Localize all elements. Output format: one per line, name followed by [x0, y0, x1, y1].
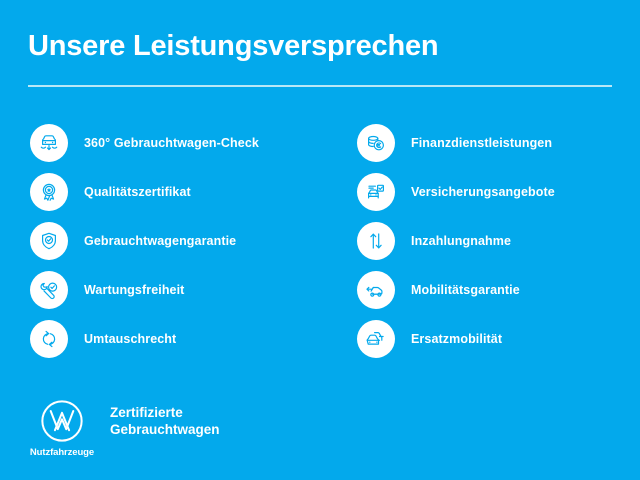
benefit-label: Ersatzmobilität — [411, 332, 502, 346]
benefit-item-quality-certificate: Qualitätszertifikat — [30, 167, 259, 216]
wrench-check-icon — [37, 278, 61, 302]
benefit-item-warranty: Gebrauchtwagengarantie — [30, 216, 259, 265]
benefit-icon-badge — [30, 173, 68, 211]
benefit-icon-badge — [30, 320, 68, 358]
header-divider — [28, 85, 612, 87]
benefit-label: Qualitätszertifikat — [84, 185, 191, 199]
benefit-item-trade-in: Inzahlungnahme — [357, 216, 555, 265]
benefit-label: Wartungsfreiheit — [84, 283, 184, 297]
volkswagen-logo — [39, 398, 85, 444]
benefit-icon-badge — [357, 124, 395, 162]
footer-lockup: Nutzfahrzeuge Zertifizierte Gebrauchtwag… — [28, 398, 220, 458]
benefit-item-360-check: 360° Gebrauchtwagen-Check — [30, 118, 259, 167]
benefit-label: Umtauschrecht — [84, 332, 176, 346]
benefit-label: Gebrauchtwagengarantie — [84, 234, 236, 248]
benefit-label: Versicherungsangebote — [411, 185, 555, 199]
car-document-check-icon — [364, 180, 388, 204]
exchange-arrows-icon — [37, 327, 61, 351]
benefit-icon-badge — [357, 271, 395, 309]
tow-truck-icon — [364, 278, 388, 302]
footer-claim-line-1: Zertifizierte — [110, 404, 220, 421]
two-cars-icon — [364, 327, 388, 351]
footer-claim-line-2: Gebrauchtwagen — [110, 421, 220, 438]
benefits-left-column: 360° Gebrauchtwagen-Check Qualitätsz — [30, 118, 259, 363]
shield-check-icon — [37, 229, 61, 253]
quality-seal-icon — [37, 180, 61, 204]
benefit-icon-badge — [357, 222, 395, 260]
up-down-arrows-icon — [364, 229, 388, 253]
benefit-icon-badge — [30, 271, 68, 309]
benefit-label: Mobilitätsgarantie — [411, 283, 520, 297]
benefit-label: Inzahlungnahme — [411, 234, 511, 248]
coins-euro-icon — [364, 131, 388, 155]
benefit-item-exchange-right: Umtauschrecht — [30, 314, 259, 363]
promo-panel: Unsere Leistungsversprechen — [0, 0, 640, 480]
benefit-item-mobility-guarantee: Mobilitätsgarantie — [357, 265, 555, 314]
benefit-label: 360° Gebrauchtwagen-Check — [84, 136, 259, 150]
benefit-item-replacement-mobility: Ersatzmobilität — [357, 314, 555, 363]
page-title: Unsere Leistungsversprechen — [28, 30, 438, 63]
benefit-icon-badge — [357, 173, 395, 211]
benefits-right-column: Finanzdienstleistungen — [357, 118, 555, 363]
logo-sub-label: Nutzfahrzeuge — [30, 447, 94, 458]
benefit-icon-badge — [30, 124, 68, 162]
car-inspection-icon — [37, 131, 61, 155]
benefit-item-financial-services: Finanzdienstleistungen — [357, 118, 555, 167]
benefit-icon-badge — [357, 320, 395, 358]
benefit-item-insurance-offers: Versicherungsangebote — [357, 167, 555, 216]
benefit-icon-badge — [30, 222, 68, 260]
footer-claim: Zertifizierte Gebrauchtwagen — [110, 404, 220, 439]
benefit-item-maintenance-free: Wartungsfreiheit — [30, 265, 259, 314]
benefit-label: Finanzdienstleistungen — [411, 136, 552, 150]
brand-logo-block: Nutzfahrzeuge — [28, 398, 96, 458]
